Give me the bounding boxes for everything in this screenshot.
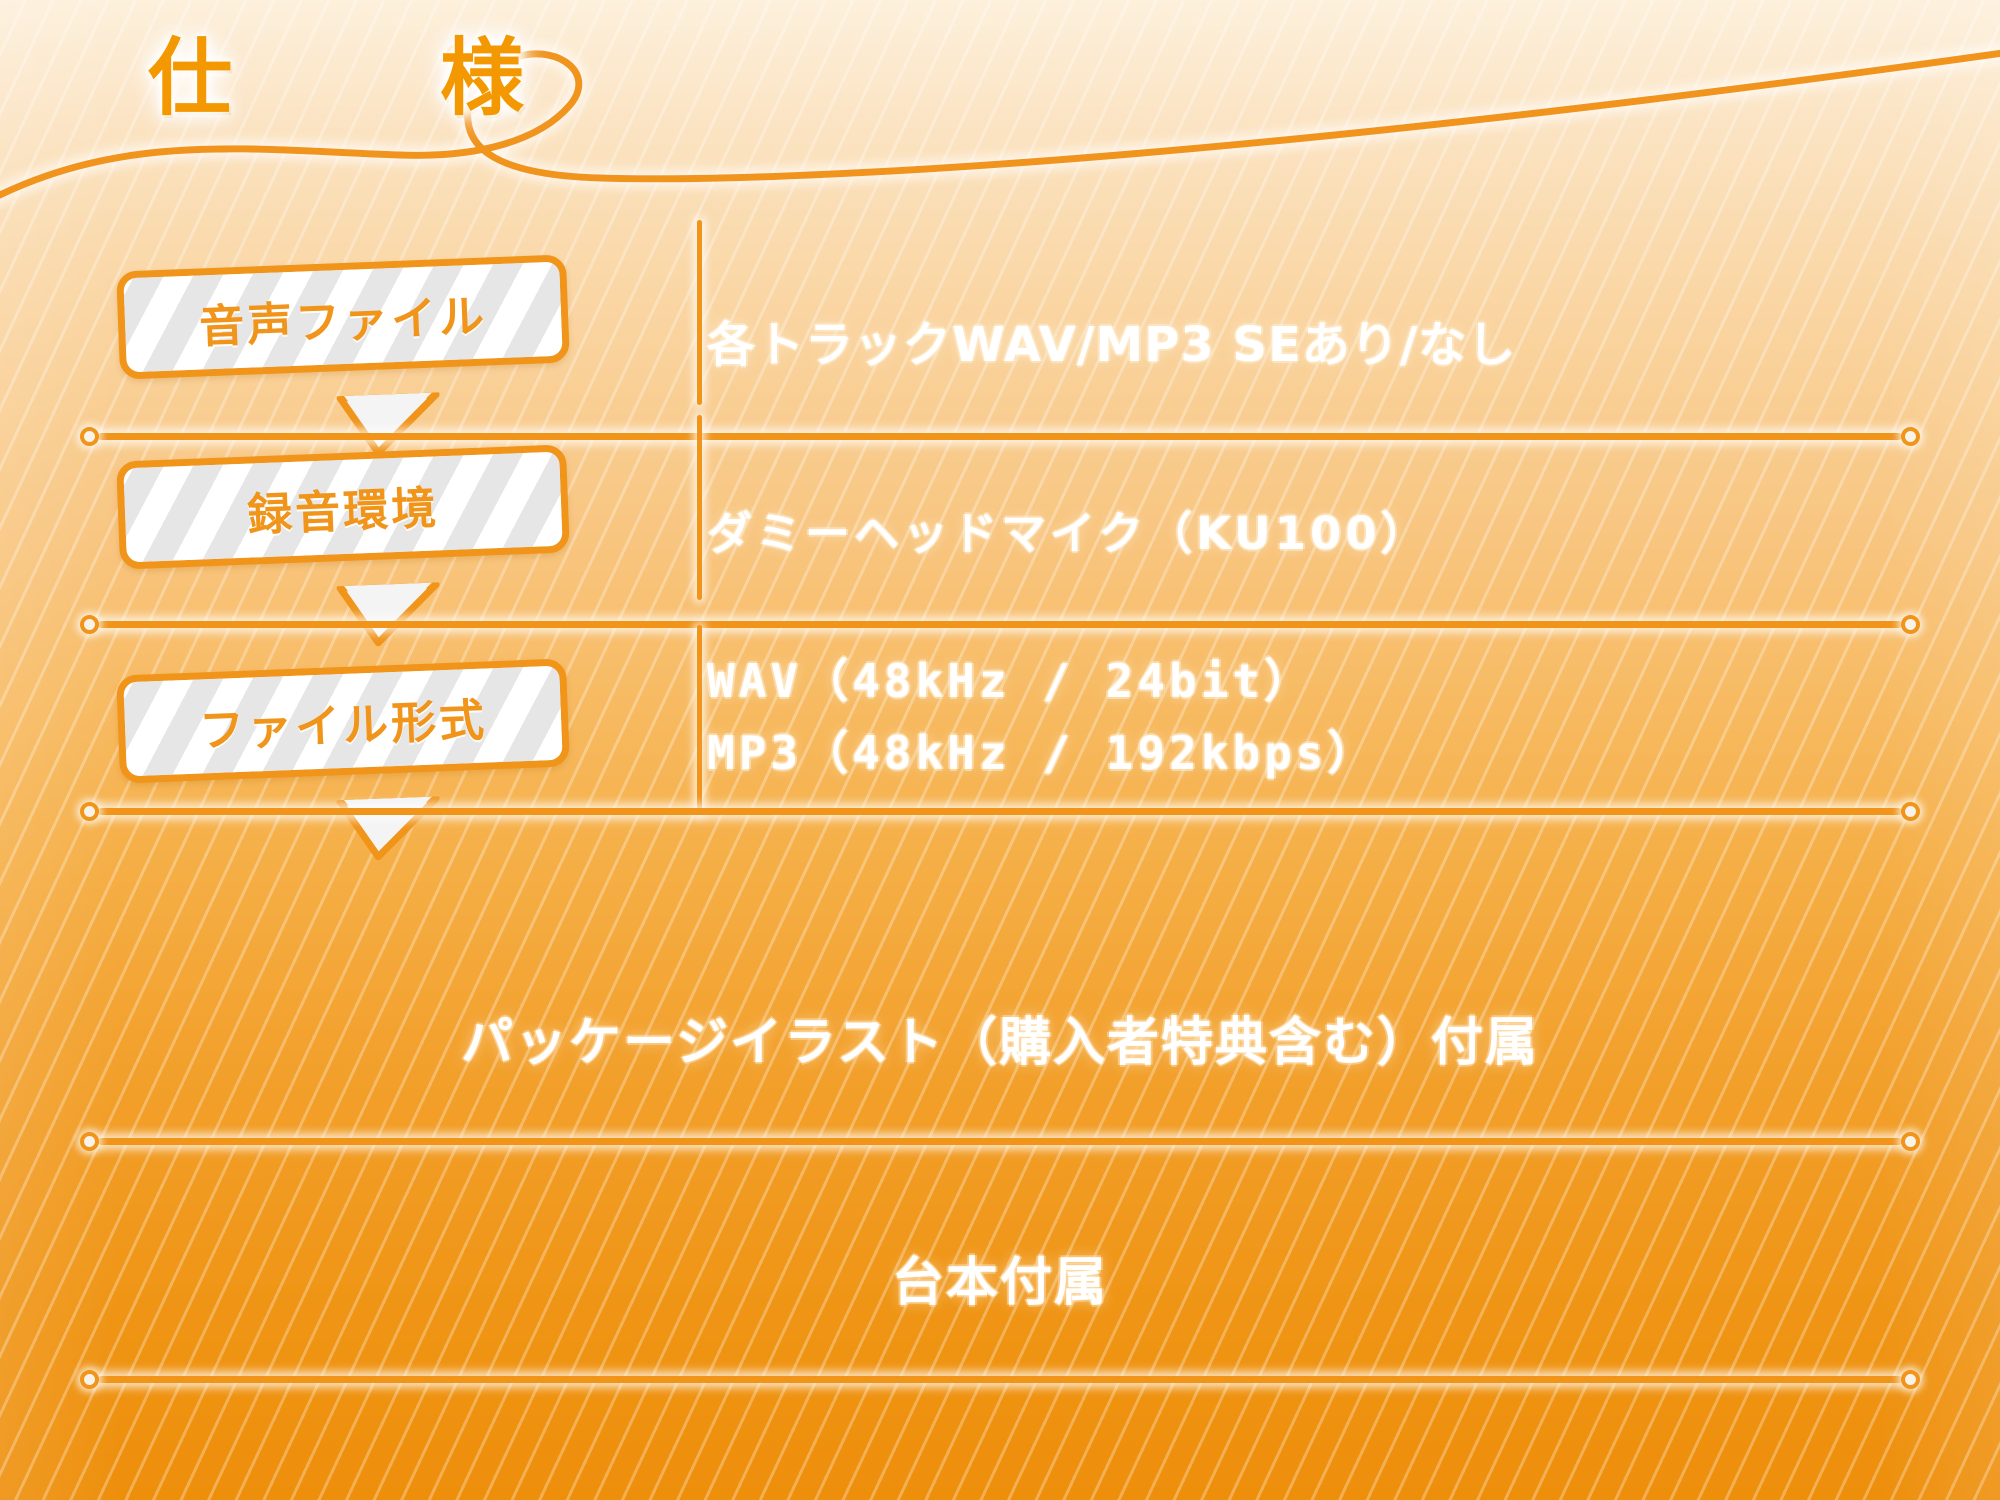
spec-label-text: 音声ファイル: [123, 262, 562, 373]
section-divider: [88, 1130, 1912, 1152]
divider-knob-icon: [80, 1370, 99, 1389]
section-divider: [88, 425, 1912, 447]
note-package-illustration: パッケージイラスト（購入者特典含む）付属: [0, 1000, 2000, 1075]
spec-row: 音声ファイル 各トラックWAV/MP3 SEあり/なし: [0, 255, 2000, 430]
spec-value-text-line1: WAV（48kHz / 24bit）: [707, 645, 1314, 711]
spec-label-bubble: 録音環境: [116, 444, 570, 569]
spec-label-bubble: ファイル形式: [116, 658, 570, 783]
note-script-included: 台本付属: [0, 1240, 2000, 1315]
divider-bar: [98, 621, 1902, 628]
spec-value-text: ダミーヘッドマイク（KU100）: [707, 497, 1430, 562]
spec-value-text: 各トラックWAV/MP3 SEあり/なし: [707, 305, 1516, 375]
divider-knob-icon: [80, 427, 99, 446]
divider-bar: [98, 1138, 1902, 1145]
spec-row-divider-vertical: [697, 625, 702, 815]
section-divider: [88, 613, 1912, 635]
spec-label-text: 録音環境: [123, 452, 562, 563]
divider-bar: [98, 808, 1902, 815]
spec-value-text-line2: MP3（48kHz / 192kbps）: [707, 717, 1378, 783]
spec-list: 音声ファイル 各トラックWAV/MP3 SEあり/なし 録音環境: [0, 0, 2000, 1500]
divider-knob-icon: [1901, 1132, 1920, 1151]
divider-bar: [98, 433, 1902, 440]
divider-knob-icon: [1901, 1370, 1920, 1389]
divider-knob-icon: [80, 1132, 99, 1151]
divider-knob-icon: [1901, 802, 1920, 821]
spec-row-divider-vertical: [697, 415, 702, 600]
spec-row-divider-vertical: [697, 220, 702, 405]
divider-knob-icon: [80, 802, 99, 821]
spec-label-bubble: 音声ファイル: [116, 254, 570, 379]
spec-label-text: ファイル形式: [123, 666, 562, 777]
divider-knob-icon: [80, 615, 99, 634]
section-divider: [88, 800, 1912, 822]
divider-bar: [98, 1376, 1902, 1383]
divider-knob-icon: [1901, 427, 1920, 446]
divider-knob-icon: [1901, 615, 1920, 634]
section-divider: [88, 1368, 1912, 1390]
spec-row: 録音環境 ダミーヘッドマイク（KU100）: [0, 445, 2000, 620]
